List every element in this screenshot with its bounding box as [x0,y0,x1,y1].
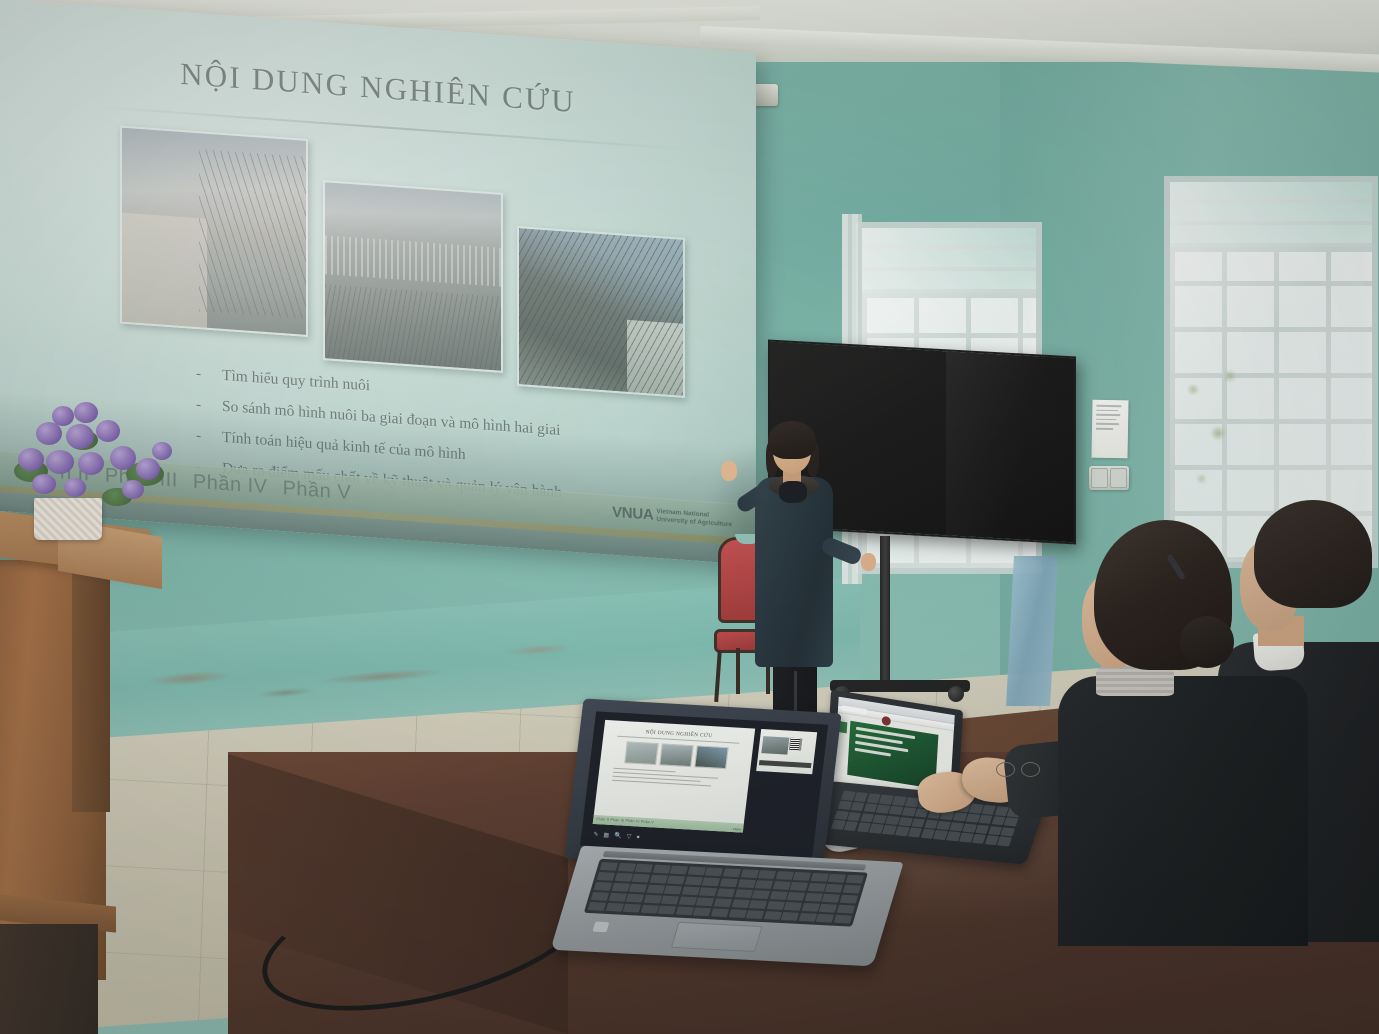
white-paper-notice [1091,400,1128,459]
podium-base [0,924,98,1034]
transom-bars [1170,182,1372,247]
vnua-logo: VNUA Vietnam National University of Agri… [612,504,732,530]
audience-front-jacket [1058,676,1308,946]
next-slide-bar [759,760,812,768]
presenter-raised-hand [721,461,737,481]
laptop-keyboard-front[interactable] [584,859,868,927]
mini-photo-2 [659,743,694,767]
pointer-icon[interactable]: ▽ [626,833,631,840]
eyeglasses[interactable] [996,762,1042,780]
mini-section-4: Phần V [641,820,654,825]
bullet-dash-1: - [196,365,222,385]
tv-screen-glare [946,351,1074,542]
audience-front-hair-bun [1180,616,1234,668]
mini-photo-3 [694,745,729,769]
double-electrical-outlet[interactable] [1089,466,1129,490]
laptop-base-front [550,846,903,967]
mini-bullet-2 [613,771,718,778]
bullet-text-1: Tìm hiểu quy trình nuôi [222,367,370,395]
outlet-socket-left[interactable] [1091,468,1108,488]
next-slide-image [761,736,789,755]
mini-slide-footer: Phần II Phần III Phần IV Phần V VNUA [593,815,744,833]
netted-pond-photo [517,226,685,398]
eyeglass-lens-right [1021,762,1040,777]
aerial-pond-photo [323,180,503,373]
purple-potted-flowers [6,402,182,510]
silver-laptop[interactable]: NỘI DUNG NGHIÊN CỨU Phần II Phần III [566,706,888,976]
seminar-room-photo: NỘI DUNG NGHIÊN CỨU -Tìm hiểu quy trình … [0,0,1379,1034]
mini-slide-photos [604,740,749,770]
slide-photo-row [110,119,690,382]
projector-screen-roller-cap [754,84,778,106]
presenter-coat [755,477,833,667]
presenter-right-hand [861,553,876,571]
laptop-screen-front[interactable]: NỘI DUNG NGHIÊN CỨU Phần II Phần III [580,711,828,858]
mini-section-3: Phần IV [625,819,640,824]
window-transom [1170,182,1372,252]
zoom-icon[interactable]: 🔍 [614,832,622,839]
presenter-toolbar[interactable]: ✎ ▦ 🔍 ▽ ● [593,831,640,841]
window-transom [862,228,1036,298]
laptop-trackpad[interactable] [671,922,763,952]
presenter-current-slide[interactable]: NỘI DUNG NGHIÊN CỨU Phần II Phần III [593,720,755,833]
blue-curtain [1006,556,1058,706]
mini-photo-1 [624,741,659,765]
next-slide-thumbnail[interactable] [756,729,817,774]
qr-code-icon [789,738,802,751]
fingerprint-sensor-icon[interactable] [592,922,609,933]
pen-icon[interactable]: ✎ [593,831,599,838]
mini-section-2: Phần III [610,818,624,823]
eyeglass-lens-left [996,762,1015,777]
audience-member-front [1068,520,1298,940]
mini-section-1: Phần II [596,817,609,822]
slide-section-4[interactable]: Phần IV [193,471,268,498]
presenter-scarf [779,481,807,503]
notes-icon[interactable]: ▦ [603,832,610,839]
bullet-dash-2: - [196,396,222,416]
mini-vnua-mark: VNUA [733,828,742,831]
presenter-hair [768,421,816,459]
bullet-text-3: Tính toán hiệu quả kinh tế của mô hình [222,429,466,463]
more-options-icon[interactable]: ● [636,834,640,840]
podium-side-panel [72,572,110,812]
outlet-socket-right[interactable] [1110,468,1127,488]
pond-embankment-photo [120,126,308,337]
bullet-dash-3: - [196,427,222,447]
vnua-mark-text: VNUA [612,504,653,524]
slide-section-5[interactable]: Phần V [283,477,352,504]
transom-bars [862,228,1036,293]
